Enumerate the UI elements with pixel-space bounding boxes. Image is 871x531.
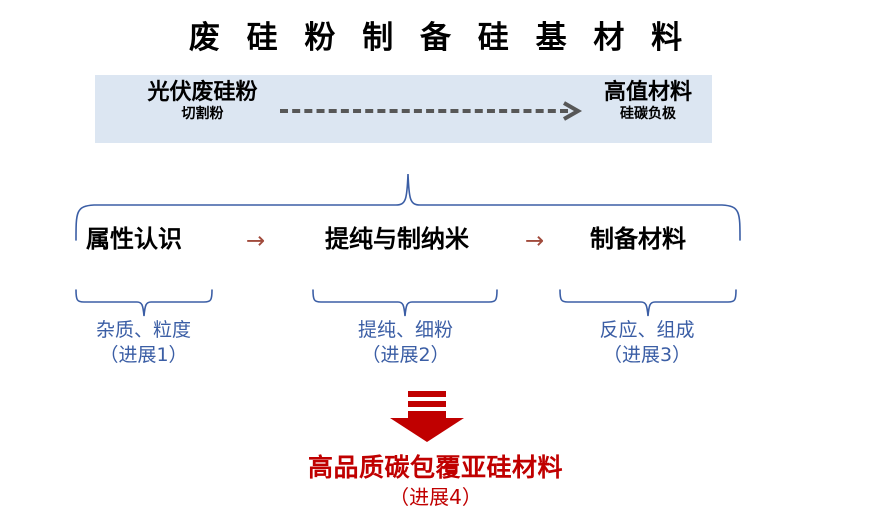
banner-source-subtitle: 切割粉 <box>110 106 295 123</box>
banner-target-block: 高值材料 硅碳负极 <box>583 80 713 123</box>
stage-label-3: 制备材料 <box>590 222 686 256</box>
result-subtitle: （进展4） <box>0 484 871 511</box>
stage-arrow-2: → <box>525 224 544 258</box>
group-2-line-1: 提纯、细粉 <box>308 318 503 343</box>
striped-down-arrow-icon <box>389 391 481 443</box>
banner-source-title: 光伏废硅粉 <box>110 80 295 106</box>
group-text-2: 提纯、细粉 （进展2） <box>308 318 503 368</box>
stage-row: 属性认识 → 提纯与制纳米 → 制备材料 <box>60 222 820 270</box>
result-block: 高品质碳包覆亚硅材料 （进展4） <box>0 452 871 511</box>
group-3-line-1: 反应、组成 <box>552 318 742 343</box>
group-brace-icon-3 <box>558 288 738 318</box>
dashed-line <box>280 109 568 113</box>
group-text-1: 杂质、粒度 （进展1） <box>66 318 221 368</box>
banner-source-block: 光伏废硅粉 切割粉 <box>110 80 295 123</box>
group-text-3: 反应、组成 （进展3） <box>552 318 742 368</box>
group-brace-icon-2 <box>311 288 499 318</box>
stage-arrow-1: → <box>246 224 265 258</box>
stage-label-1: 属性认识 <box>86 222 182 256</box>
group-3-line-2: （进展3） <box>552 343 742 368</box>
banner-connector <box>280 100 590 122</box>
result-title: 高品质碳包覆亚硅材料 <box>0 452 871 484</box>
group-1-line-1: 杂质、粒度 <box>66 318 221 343</box>
group-1-line-2: （进展1） <box>66 343 221 368</box>
group-2-line-2: （进展2） <box>308 343 503 368</box>
page-title: 废 硅 粉 制 备 硅 基 材 料 <box>0 12 871 57</box>
banner-target-subtitle: 硅碳负极 <box>583 106 713 123</box>
group-brace-icon-1 <box>74 288 214 318</box>
slide-canvas: 废 硅 粉 制 备 硅 基 材 料 光伏废硅粉 切割粉 高值材料 硅碳负极 属性… <box>0 0 871 531</box>
banner-target-title: 高值材料 <box>583 80 713 106</box>
stage-label-2: 提纯与制纳米 <box>325 222 469 256</box>
